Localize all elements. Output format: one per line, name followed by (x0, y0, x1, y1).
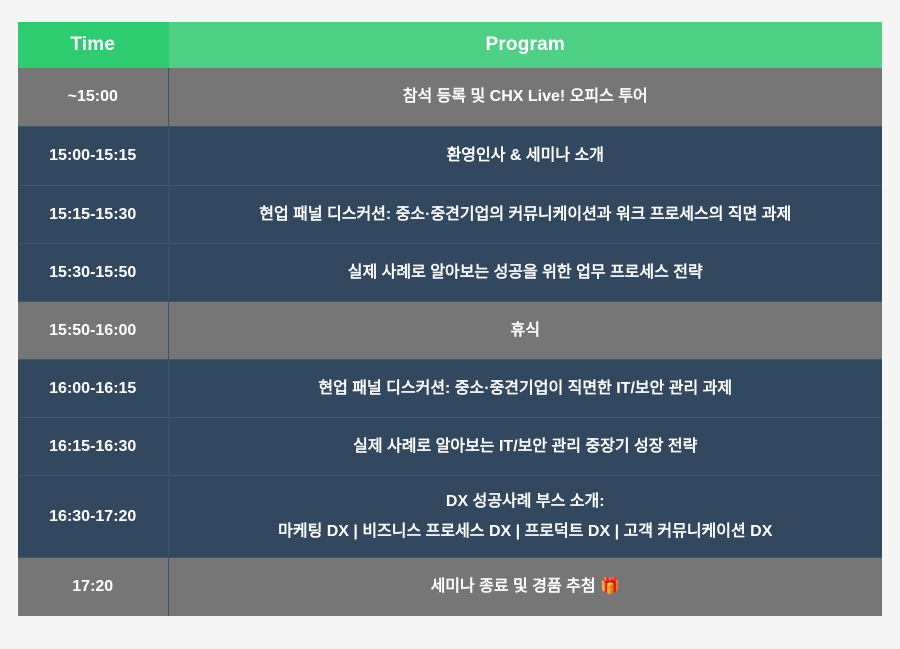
cell-program: 환영인사 & 세미나 소개 (168, 127, 882, 186)
table-row: 15:15-15:30 현업 패널 디스커션: 중소·중견기업의 커뮤니케이션과… (18, 186, 882, 244)
table-row: 15:50-16:00 휴식 (18, 302, 882, 360)
table-row: 15:30-15:50 실제 사례로 알아보는 성공을 위한 업무 프로세스 전… (18, 244, 882, 302)
header-row: Time Program (18, 22, 882, 68)
cell-program: 실제 사례로 알아보는 IT/보안 관리 중장기 성장 전략 (168, 418, 882, 476)
table-row: 16:00-16:15 현업 패널 디스커션: 중소·중견기업이 직면한 IT/… (18, 360, 882, 418)
cell-time: ~15:00 (18, 68, 168, 127)
program-schedule-table: Time Program ~15:00 참석 등록 및 CHX Live! 오피… (18, 22, 882, 616)
column-header-time: Time (18, 22, 168, 68)
program-line-primary: 현업 패널 디스커션: 중소·중견기업이 직면한 IT/보안 관리 과제 (183, 377, 869, 400)
program-line-primary: 휴식 (183, 319, 869, 342)
program-line-primary: 환영인사 & 세미나 소개 (183, 144, 869, 167)
cell-program: DX 성공사례 부스 소개: 마케팅 DX | 비즈니스 프로세스 DX | 프… (168, 476, 882, 558)
cell-program: 세미나 종료 및 경품 추첨 🎁 (168, 558, 882, 617)
cell-program: 실제 사례로 알아보는 성공을 위한 업무 프로세스 전략 (168, 244, 882, 302)
program-line-primary: DX 성공사례 부스 소개: (183, 490, 869, 513)
table-row: 15:00-15:15 환영인사 & 세미나 소개 (18, 127, 882, 186)
table-row: ~15:00 참석 등록 및 CHX Live! 오피스 투어 (18, 68, 882, 127)
cell-time: 16:15-16:30 (18, 418, 168, 476)
table-row: 16:30-17:20 DX 성공사례 부스 소개: 마케팅 DX | 비즈니스… (18, 476, 882, 558)
program-line-secondary: 마케팅 DX | 비즈니스 프로세스 DX | 프로덕트 DX | 고객 커뮤니… (183, 520, 869, 543)
program-line-primary: 실제 사례로 알아보는 성공을 위한 업무 프로세스 전략 (183, 261, 869, 284)
program-line-primary: 참석 등록 및 CHX Live! 오피스 투어 (183, 85, 869, 108)
cell-time: 15:50-16:00 (18, 302, 168, 360)
table-body: ~15:00 참석 등록 및 CHX Live! 오피스 투어 15:00-15… (18, 68, 882, 616)
table-row: 17:20 세미나 종료 및 경품 추첨 🎁 (18, 558, 882, 617)
cell-program: 현업 패널 디스커션: 중소·중견기업이 직면한 IT/보안 관리 과제 (168, 360, 882, 418)
program-line-primary: 세미나 종료 및 경품 추첨 🎁 (183, 575, 869, 598)
program-line-primary: 실제 사례로 알아보는 IT/보안 관리 중장기 성장 전략 (183, 435, 869, 458)
cell-time: 15:15-15:30 (18, 186, 168, 244)
table-header: Time Program (18, 22, 882, 68)
cell-time: 17:20 (18, 558, 168, 617)
cell-time: 16:30-17:20 (18, 476, 168, 558)
cell-time: 15:00-15:15 (18, 127, 168, 186)
column-header-program: Program (168, 22, 882, 68)
cell-time: 15:30-15:50 (18, 244, 168, 302)
program-line-primary: 현업 패널 디스커션: 중소·중견기업의 커뮤니케이션과 워크 프로세스의 직면… (183, 203, 869, 226)
cell-program: 현업 패널 디스커션: 중소·중견기업의 커뮤니케이션과 워크 프로세스의 직면… (168, 186, 882, 244)
cell-time: 16:00-16:15 (18, 360, 168, 418)
table-row: 16:15-16:30 실제 사례로 알아보는 IT/보안 관리 중장기 성장 … (18, 418, 882, 476)
schedule-page: Time Program ~15:00 참석 등록 및 CHX Live! 오피… (0, 0, 900, 649)
cell-program: 휴식 (168, 302, 882, 360)
cell-program: 참석 등록 및 CHX Live! 오피스 투어 (168, 68, 882, 127)
